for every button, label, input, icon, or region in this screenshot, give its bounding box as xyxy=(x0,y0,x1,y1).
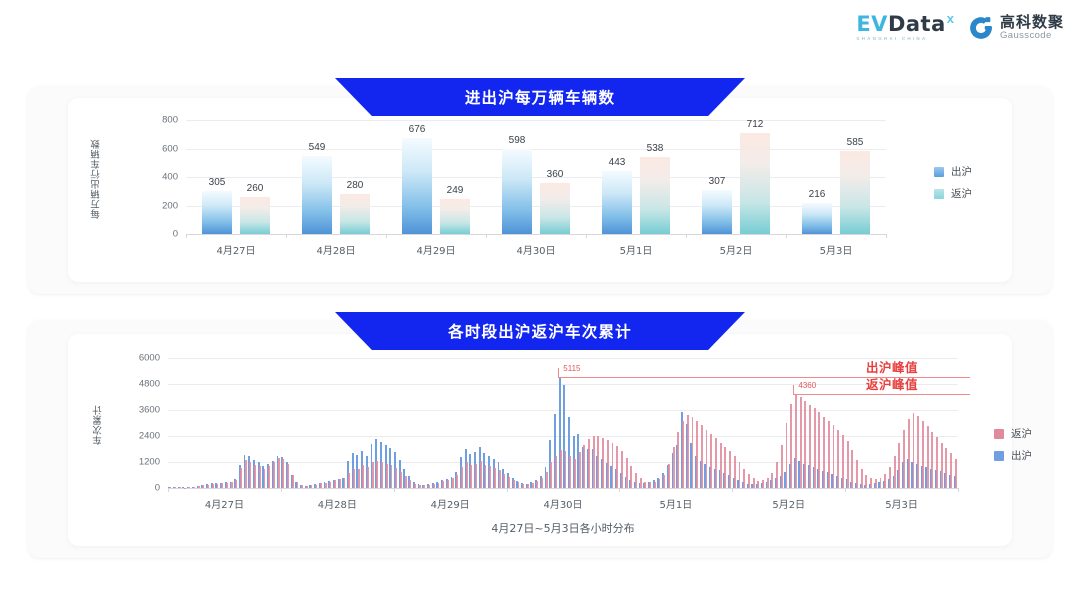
bar-fanhu-hour xyxy=(249,462,251,488)
annotation-label-返沪峰值: 返沪峰值 xyxy=(866,374,918,393)
x-axis-tick-mark xyxy=(186,234,187,238)
x-axis-tick-mark xyxy=(958,488,959,492)
bar-出沪-4月27日 xyxy=(202,191,232,234)
bar-fanhu-hour xyxy=(955,459,957,488)
bar-fanhu-hour xyxy=(212,484,214,488)
y-axis-tick-label: 400 xyxy=(142,172,178,183)
bar-fanhu-hour xyxy=(743,469,745,489)
bar-fanhu-hour xyxy=(715,438,717,488)
bar-fanhu-hour xyxy=(367,467,369,488)
bar-fanhu-hour xyxy=(781,445,783,488)
x-axis-tick-label: 4月30日 xyxy=(516,242,555,257)
bar-fanhu-hour xyxy=(579,452,581,488)
report-page: EVData x SHANGHAI CHINA 高科数聚 Gausscode xyxy=(0,0,1080,608)
bar-fanhu-hour xyxy=(687,415,689,488)
y-axis-tick-label: 6000 xyxy=(124,353,160,364)
bar-fanhu-hour xyxy=(494,468,496,488)
bar-fanhu-hour xyxy=(207,485,209,488)
y-axis-tick-label: 600 xyxy=(142,143,178,154)
bar-fanhu-hour xyxy=(395,468,397,488)
evdata-logo-suffix: Data xyxy=(888,12,946,36)
bar-value-label: 585 xyxy=(847,137,864,148)
bar-fanhu-hour xyxy=(865,475,867,488)
bar-fanhu-hour xyxy=(692,417,694,488)
bar-value-label: 549 xyxy=(309,142,326,153)
bar-fanhu-hour xyxy=(767,478,769,488)
bar-fanhu-hour xyxy=(179,487,181,488)
bar-fanhu-hour xyxy=(358,469,360,488)
bar-fanhu-hour xyxy=(823,417,825,489)
bar-fanhu-hour xyxy=(616,446,618,488)
bar-fanhu-hour xyxy=(710,434,712,488)
bar-fanhu-hour xyxy=(273,462,275,488)
bar-出沪-4月28日 xyxy=(302,156,332,234)
bar-fanhu-hour xyxy=(475,464,477,488)
gausscode-logo-cn: 高科数聚 xyxy=(1000,15,1064,31)
bar-fanhu-hour xyxy=(626,458,628,488)
bar-fanhu-hour xyxy=(485,465,487,488)
bar-fanhu-hour xyxy=(268,466,270,488)
bar-fanhu-hour xyxy=(776,462,778,488)
bar-fanhu-hour xyxy=(861,469,863,489)
x-axis-tick-mark xyxy=(686,234,687,238)
bar-fanhu-hour xyxy=(842,435,844,488)
x-axis-tick-label: 5月1日 xyxy=(659,496,692,511)
bar-fanhu-hour xyxy=(405,476,407,488)
legend-item-返沪[interactable]: 返沪 xyxy=(934,186,972,201)
bar-fanhu-hour xyxy=(847,441,849,488)
bar-fanhu-hour xyxy=(612,443,614,488)
bar-fanhu-hour xyxy=(433,484,435,488)
bar-fanhu-hour xyxy=(927,426,929,488)
bar-fanhu-hour xyxy=(226,483,228,488)
chart-card-vehicles: 每万辆出行车辆数02004006008003052604月27日5492804月… xyxy=(68,98,1012,282)
bar-fanhu-hour xyxy=(889,467,891,488)
legend-label-返沪: 返沪 xyxy=(1011,426,1032,441)
bar-fanhu-hour xyxy=(480,461,482,488)
bar-value-label: 280 xyxy=(347,180,364,191)
bar-fanhu-hour xyxy=(470,465,472,488)
bar-fanhu-hour xyxy=(202,485,204,488)
bar-fanhu-hour xyxy=(499,470,501,488)
x-axis-tick-mark xyxy=(281,488,282,492)
bar-fanhu-hour xyxy=(386,464,388,488)
bar-value-label: 216 xyxy=(809,189,826,200)
bar-fanhu-hour xyxy=(391,465,393,488)
bar-fanhu-hour xyxy=(428,485,430,488)
legend-vehicles: 出沪返沪 xyxy=(934,164,972,201)
bar-fanhu-hour xyxy=(193,487,195,488)
bar-fanhu-hour xyxy=(518,482,520,488)
bar-fanhu-hour xyxy=(621,451,623,488)
bar-value-label: 712 xyxy=(747,119,764,130)
gridline-horizontal xyxy=(186,206,886,207)
annotation-line-返沪峰值 xyxy=(793,394,970,395)
bar-fanhu-hour xyxy=(560,450,562,488)
bar-fanhu-hour xyxy=(922,421,924,488)
x-axis-tick-label: 4月29日 xyxy=(431,496,470,511)
bar-fanhu-hour xyxy=(739,462,741,488)
bar-fanhu-hour xyxy=(541,478,543,488)
bar-fanhu-hour xyxy=(536,481,538,488)
bar-fanhu-hour xyxy=(757,481,759,488)
bar-fanhu-hour xyxy=(259,466,261,488)
bar-fanhu-hour xyxy=(908,419,910,488)
bar-fanhu-hour xyxy=(903,430,905,489)
x-axis-tick-mark xyxy=(286,234,287,238)
bar-fanhu-hour xyxy=(659,479,661,488)
bar-fanhu-hour xyxy=(945,448,947,488)
bar-fanhu-hour xyxy=(565,451,567,488)
x-axis-tick-label: 4月28日 xyxy=(318,496,357,511)
bar-fanhu-hour xyxy=(466,462,468,488)
bar-fanhu-hour xyxy=(409,480,411,488)
legend-hourly: 返沪出沪 xyxy=(994,426,1032,463)
evdata-logo: EVData x SHANGHAI CHINA xyxy=(856,14,954,42)
bar-fanhu-hour xyxy=(235,480,237,488)
gridline-horizontal xyxy=(186,177,886,178)
x-axis-tick-mark xyxy=(168,488,169,492)
bar-fanhu-hour xyxy=(287,464,289,488)
x-axis-tick-label: 5月3日 xyxy=(885,496,918,511)
bar-fanhu-hour xyxy=(353,469,355,489)
bar-fanhu-hour xyxy=(503,474,505,488)
bar-fanhu-hour xyxy=(809,405,811,488)
bar-fanhu-hour xyxy=(917,416,919,488)
bar-fanhu-hour xyxy=(174,487,176,488)
bar-fanhu-hour xyxy=(597,436,599,488)
x-axis-tick-label: 4月28日 xyxy=(316,242,355,257)
bar-fanhu-hour xyxy=(734,456,736,488)
annotation-value-返沪峰值: 4360 xyxy=(798,381,816,390)
bar-fanhu-hour xyxy=(522,484,524,488)
bar-fanhu-hour xyxy=(795,394,797,488)
bar-fanhu-hour xyxy=(513,480,515,488)
bar-fanhu-hour xyxy=(668,464,670,488)
bar-fanhu-hour xyxy=(447,480,449,488)
legend-item-返沪[interactable]: 返沪 xyxy=(994,426,1032,441)
x-axis-tick-mark xyxy=(886,234,887,238)
bar-fanhu-hour xyxy=(461,467,463,488)
bar-value-label: 307 xyxy=(709,176,726,187)
evdata-x-icon: x xyxy=(947,12,954,25)
bar-fanhu-hour xyxy=(508,477,510,488)
bar-fanhu-hour xyxy=(414,484,416,488)
bar-fanhu-hour xyxy=(170,487,172,488)
x-axis-tick-mark xyxy=(394,488,395,492)
bar-fanhu-hour xyxy=(348,473,350,488)
evdata-logo-prefix: EV xyxy=(856,12,888,36)
legend-label-出沪: 出沪 xyxy=(1011,448,1032,463)
annotation-stem-返沪峰值 xyxy=(793,385,794,394)
bar-value-label: 538 xyxy=(647,143,664,154)
bar-fanhu-hour xyxy=(913,413,915,488)
legend-label-出沪: 出沪 xyxy=(951,164,972,179)
x-axis-tick-mark xyxy=(732,488,733,492)
bar-fanhu-hour xyxy=(898,443,900,489)
chart-card-hourly: 车次累计0120024003600480060004月27日4月28日4月29日… xyxy=(68,334,1012,546)
x-axis-tick-mark xyxy=(386,234,387,238)
bar-value-label: 598 xyxy=(509,135,526,146)
annotation-stem-出沪峰值 xyxy=(558,368,559,377)
bar-fanhu-hour xyxy=(814,408,816,488)
bar-fanhu-hour xyxy=(931,432,933,488)
bar-fanhu-hour xyxy=(936,437,938,488)
y-axis-label-vehicles: 每万辆出行车辆数 xyxy=(90,122,104,236)
bar-fanhu-hour xyxy=(701,425,703,488)
bar-fanhu-hour xyxy=(950,453,952,488)
bar-fanhu-hour xyxy=(489,466,491,488)
x-axis-tick-mark xyxy=(619,488,620,492)
bar-fanhu-hour xyxy=(588,439,590,488)
legend-swatch-返沪 xyxy=(934,189,944,199)
bar-fanhu-hour xyxy=(231,482,233,488)
legend-item-出沪[interactable]: 出沪 xyxy=(994,448,1032,463)
bar-fanhu-hour xyxy=(292,475,294,488)
gausscode-mark-icon xyxy=(968,15,994,41)
bar-fanhu-hour xyxy=(198,486,200,488)
bar-value-label: 676 xyxy=(409,124,426,135)
bar-fanhu-hour xyxy=(555,456,557,489)
bar-fanhu-hour xyxy=(941,443,943,489)
evdata-logo-wordmark: EVData x xyxy=(856,14,954,35)
bar-fanhu-hour xyxy=(833,425,835,488)
bar-fanhu-hour xyxy=(673,447,675,488)
x-axis-tick-label: 4月29日 xyxy=(416,242,455,257)
bar-fanhu-hour xyxy=(870,478,872,488)
y-axis-tick-label: 4800 xyxy=(124,379,160,390)
gridline-horizontal xyxy=(186,120,886,121)
bar-fanhu-hour xyxy=(315,485,317,488)
gridline-horizontal xyxy=(186,234,886,235)
bar-fanhu-hour xyxy=(325,483,327,488)
bar-fanhu-hour xyxy=(381,462,383,488)
bar-fanhu-hour xyxy=(654,482,656,489)
bar-返沪-5月3日 xyxy=(840,151,870,234)
gausscode-logo-en: Gausscode xyxy=(1000,31,1064,41)
x-axis-tick-label: 5月1日 xyxy=(620,242,653,257)
x-axis-tick-label: 5月3日 xyxy=(820,242,853,257)
legend-label-返沪: 返沪 xyxy=(951,186,972,201)
bar-fanhu-hour xyxy=(856,460,858,488)
bar-fanhu-hour xyxy=(301,485,303,488)
bar-value-label: 360 xyxy=(547,169,564,180)
bar-fanhu-hour xyxy=(550,462,552,488)
bar-value-label: 260 xyxy=(247,183,264,194)
y-axis-tick-label: 800 xyxy=(142,115,178,126)
bar-fanhu-hour xyxy=(320,483,322,488)
bar-fanhu-hour xyxy=(546,472,548,488)
bar-chart-hourly-cumulative: 车次累计0120024003600480060004月27日4月28日4月29日… xyxy=(68,334,1012,546)
bar-fanhu-hour xyxy=(880,478,882,488)
bar-fanhu-hour xyxy=(339,479,341,488)
evdata-logo-tagline: SHANGHAI CHINA xyxy=(856,37,927,42)
bar-value-label: 443 xyxy=(609,157,626,168)
bar-fanhu-hour xyxy=(644,482,646,489)
bar-返沪-4月29日 xyxy=(440,199,470,234)
x-axis-tick-mark xyxy=(486,234,487,238)
bar-chart-vehicles-per-10k: 每万辆出行车辆数02004006008003052604月27日5492804月… xyxy=(68,98,1012,282)
bar-fanhu-hour xyxy=(452,478,454,488)
bar-返沪-4月28日 xyxy=(340,194,370,234)
x-axis-tick-mark xyxy=(586,234,587,238)
x-axis-tick-mark xyxy=(786,234,787,238)
gridline-horizontal xyxy=(168,488,958,489)
x-axis-tick-label: 4月27日 xyxy=(205,496,244,511)
chart-panel-vehicles: 每万辆出行车辆数02004006008003052604月27日5492804月… xyxy=(28,86,1052,294)
x-axis-title-hourly: 4月27日~5月3日各小时分布 xyxy=(491,520,634,536)
page-header: EVData x SHANGHAI CHINA 高科数聚 Gausscode xyxy=(0,0,1080,62)
y-axis-tick-label: 3600 xyxy=(124,405,160,416)
legend-swatch-出沪 xyxy=(934,167,944,177)
chart-title-hourly: 各时段出沪返沪车次累计 xyxy=(335,312,745,350)
bar-返沪-5月2日 xyxy=(740,133,770,234)
x-axis-tick-label: 5月2日 xyxy=(720,242,753,257)
bar-fanhu-hour xyxy=(851,450,853,488)
evdata-logo-text: EVData xyxy=(856,14,945,35)
chart-title-vehicles: 进出沪每万辆车辆数 xyxy=(335,78,745,116)
gridline-horizontal xyxy=(168,358,958,359)
bar-返沪-5月1日 xyxy=(640,157,670,234)
bar-fanhu-hour xyxy=(311,485,313,488)
bar-fanhu-hour xyxy=(640,478,642,488)
bar-fanhu-hour xyxy=(334,480,336,488)
bar-fanhu-hour xyxy=(254,465,256,488)
bar-fanhu-hour xyxy=(423,485,425,488)
bar-fanhu-hour xyxy=(837,430,839,489)
bar-fanhu-hour xyxy=(818,412,820,488)
gridline-horizontal xyxy=(186,149,886,150)
x-axis-tick-mark xyxy=(507,488,508,492)
bar-fanhu-hour xyxy=(649,482,651,488)
bar-出沪-4月29日 xyxy=(402,138,432,234)
gausscode-logo-text: 高科数聚 Gausscode xyxy=(1000,15,1064,41)
x-axis-tick-mark xyxy=(845,488,846,492)
x-axis-tick-label: 4月27日 xyxy=(216,242,255,257)
bar-fanhu-hour xyxy=(278,458,280,488)
bar-fanhu-hour xyxy=(362,465,364,488)
bar-fanhu-hour xyxy=(786,423,788,488)
bar-出沪-5月2日 xyxy=(702,190,732,234)
bar-fanhu-hour xyxy=(344,478,346,488)
bar-fanhu-hour xyxy=(400,472,402,488)
bar-fanhu-hour xyxy=(282,459,284,488)
y-axis-label-hourly: 车次累计 xyxy=(92,360,106,490)
bar-fanhu-hour xyxy=(527,484,529,488)
bar-fanhu-hour xyxy=(438,483,440,488)
bar-fanhu-hour xyxy=(297,482,299,488)
legend-swatch-返沪 xyxy=(994,429,1004,439)
bar-fanhu-hour xyxy=(240,468,242,488)
bar-fanhu-hour xyxy=(828,421,830,488)
bar-fanhu-hour xyxy=(376,461,378,488)
bar-fanhu-hour xyxy=(720,443,722,489)
bar-fanhu-hour xyxy=(663,475,665,488)
bar-fanhu-hour xyxy=(696,421,698,488)
bar-fanhu-hour xyxy=(593,436,595,488)
bar-fanhu-hour xyxy=(442,481,444,488)
bar-fanhu-hour xyxy=(729,451,731,488)
bar-fanhu-hour xyxy=(790,404,792,489)
bar-fanhu-hour xyxy=(884,474,886,488)
gausscode-logo: 高科数聚 Gausscode xyxy=(968,15,1064,41)
bar-fanhu-hour xyxy=(532,483,534,488)
bar-fanhu-hour xyxy=(800,397,802,488)
bar-fanhu-hour xyxy=(894,456,896,489)
bar-fanhu-hour xyxy=(677,432,679,488)
bar-fanhu-hour xyxy=(264,469,266,489)
y-axis-tick-label: 0 xyxy=(124,483,160,494)
logo-group: EVData x SHANGHAI CHINA 高科数聚 Gausscode xyxy=(856,14,1064,42)
bar-fanhu-hour xyxy=(217,484,219,488)
legend-swatch-出沪 xyxy=(994,451,1004,461)
bar-value-label: 305 xyxy=(209,177,226,188)
bar-fanhu-hour xyxy=(753,478,755,488)
bar-出沪-4月30日 xyxy=(502,149,532,234)
bar-fanhu-hour xyxy=(771,473,773,488)
bar-返沪-4月27日 xyxy=(240,197,270,234)
bar-fanhu-hour xyxy=(602,438,604,488)
bar-fanhu-hour xyxy=(188,487,190,488)
bar-fanhu-hour xyxy=(583,445,585,488)
bar-fanhu-hour xyxy=(804,401,806,488)
bar-fanhu-hour xyxy=(372,462,374,488)
bar-返沪-4月30日 xyxy=(540,183,570,234)
x-axis-tick-label: 5月2日 xyxy=(772,496,805,511)
y-axis-tick-label: 2400 xyxy=(124,431,160,442)
bar-fanhu-hour xyxy=(875,479,877,488)
bar-value-label: 249 xyxy=(447,185,464,196)
bar-fanhu-hour xyxy=(569,456,571,488)
x-axis-tick-label: 4月30日 xyxy=(543,496,582,511)
bar-fanhu-hour xyxy=(329,482,331,489)
bar-fanhu-hour xyxy=(724,447,726,488)
bar-fanhu-hour xyxy=(419,485,421,488)
bar-fanhu-hour xyxy=(630,466,632,488)
bar-fanhu-hour xyxy=(635,473,637,488)
bar-fanhu-hour xyxy=(574,459,576,488)
bar-fanhu-hour xyxy=(456,475,458,488)
y-axis-tick-label: 200 xyxy=(142,200,178,211)
bar-fanhu-hour xyxy=(306,486,308,488)
chart-panel-hourly: 车次累计0120024003600480060004月27日4月28日4月29日… xyxy=(28,320,1052,558)
bar-fanhu-hour xyxy=(682,421,684,488)
bar-出沪-5月1日 xyxy=(602,171,632,234)
bar-fanhu-hour xyxy=(221,483,223,488)
bar-fanhu-hour xyxy=(607,440,609,488)
bar-出沪-5月3日 xyxy=(802,203,832,234)
annotation-value-出沪峰值: 5115 xyxy=(563,364,580,373)
bar-fanhu-hour xyxy=(245,460,247,488)
y-axis-tick-label: 0 xyxy=(142,229,178,240)
y-axis-tick-label: 1200 xyxy=(124,457,160,468)
bar-fanhu-hour xyxy=(706,430,708,489)
bar-fanhu-hour xyxy=(762,480,764,488)
legend-item-出沪[interactable]: 出沪 xyxy=(934,164,972,179)
bar-fanhu-hour xyxy=(748,474,750,488)
